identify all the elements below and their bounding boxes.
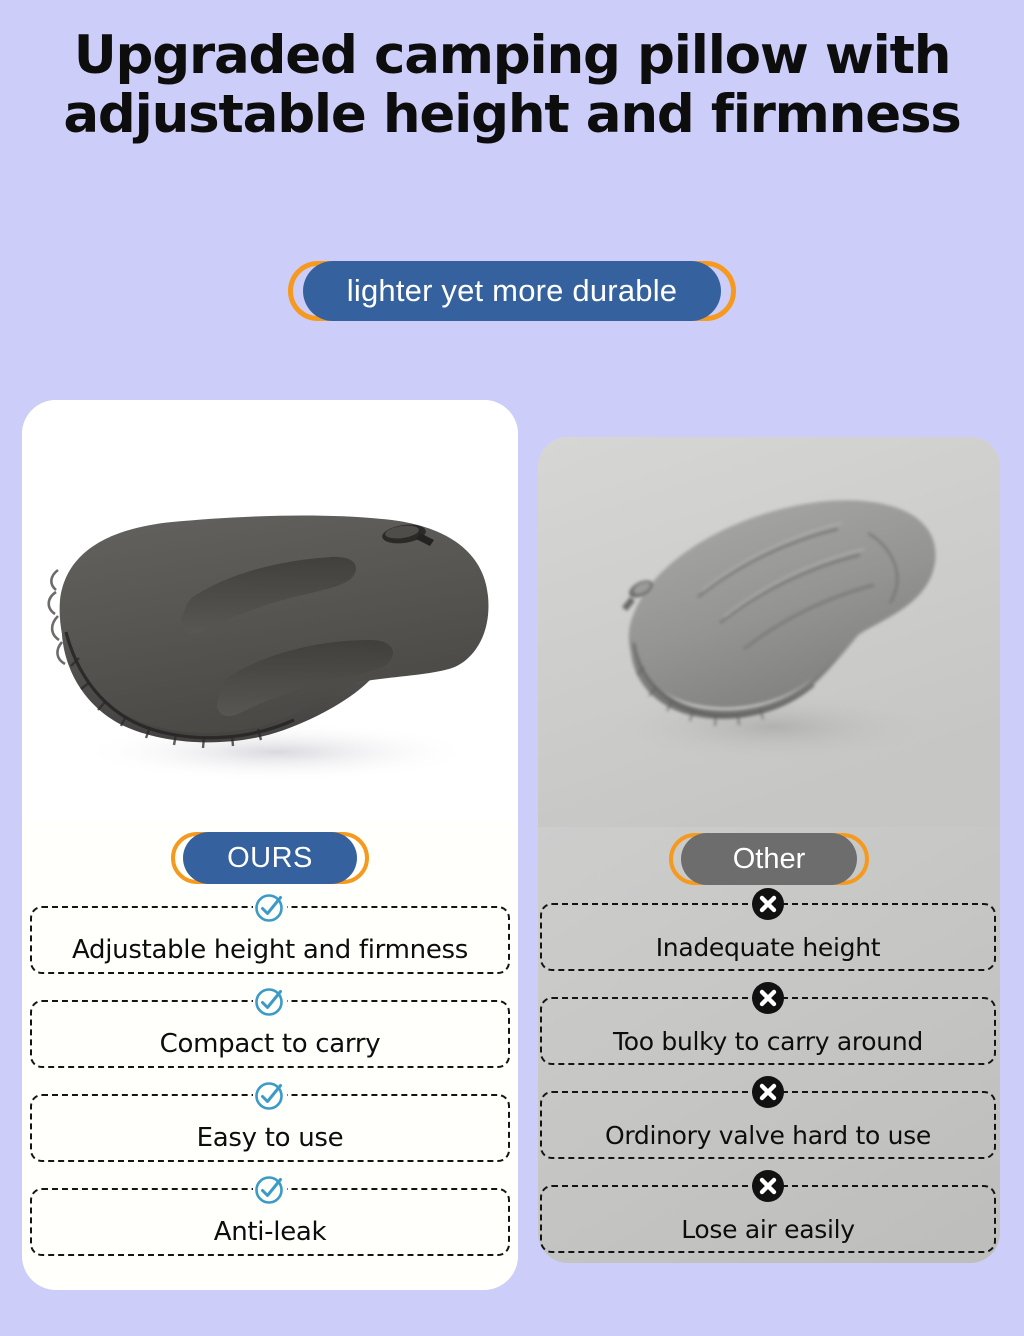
check-circle-icon <box>253 1172 287 1206</box>
ours-feature-list: Adjustable height and firmness Compact t… <box>30 906 510 1282</box>
feature-label: Adjustable height and firmness <box>72 935 468 965</box>
other-label-badge: Other <box>538 833 1000 885</box>
ours-pillow-illustration <box>22 400 518 820</box>
feature-item: Anti-leak <box>30 1188 510 1256</box>
feature-label: Compact to carry <box>160 1029 381 1059</box>
feature-label: Inadequate height <box>656 933 881 962</box>
check-circle-icon <box>253 1078 287 1112</box>
feature-item: Compact to carry <box>30 1000 510 1068</box>
check-circle-icon <box>253 984 287 1018</box>
other-label-text: Other <box>681 833 858 885</box>
check-circle-icon <box>253 890 287 924</box>
ours-product-image <box>22 400 518 820</box>
page-title: Upgraded camping pillow with adjustable … <box>60 26 964 145</box>
other-product-image <box>538 437 1000 827</box>
feature-label: Anti-leak <box>214 1217 327 1247</box>
feature-label: Ordinory valve hard to use <box>605 1121 931 1150</box>
feature-item: Ordinory valve hard to use <box>540 1091 996 1159</box>
cross-circle-icon <box>751 1169 785 1203</box>
feature-item: Adjustable height and firmness <box>30 906 510 974</box>
feature-item: Lose air easily <box>540 1185 996 1253</box>
ours-label-text: OURS <box>183 832 357 884</box>
other-feature-list: Inadequate height Too bulky to carry aro… <box>540 903 996 1279</box>
feature-label: Easy to use <box>197 1123 344 1153</box>
feature-item: Inadequate height <box>540 903 996 971</box>
feature-label: Too bulky to carry around <box>613 1027 923 1056</box>
other-pillow-illustration <box>538 437 1000 827</box>
tagline-badge-label: lighter yet more durable <box>303 261 721 321</box>
tagline-badge: lighter yet more durable <box>0 261 1024 321</box>
feature-label: Lose air easily <box>681 1215 855 1244</box>
ours-label-badge: OURS <box>22 832 518 884</box>
cross-circle-icon <box>751 981 785 1015</box>
cross-circle-icon <box>751 887 785 921</box>
feature-item: Too bulky to carry around <box>540 997 996 1065</box>
feature-item: Easy to use <box>30 1094 510 1162</box>
cross-circle-icon <box>751 1075 785 1109</box>
